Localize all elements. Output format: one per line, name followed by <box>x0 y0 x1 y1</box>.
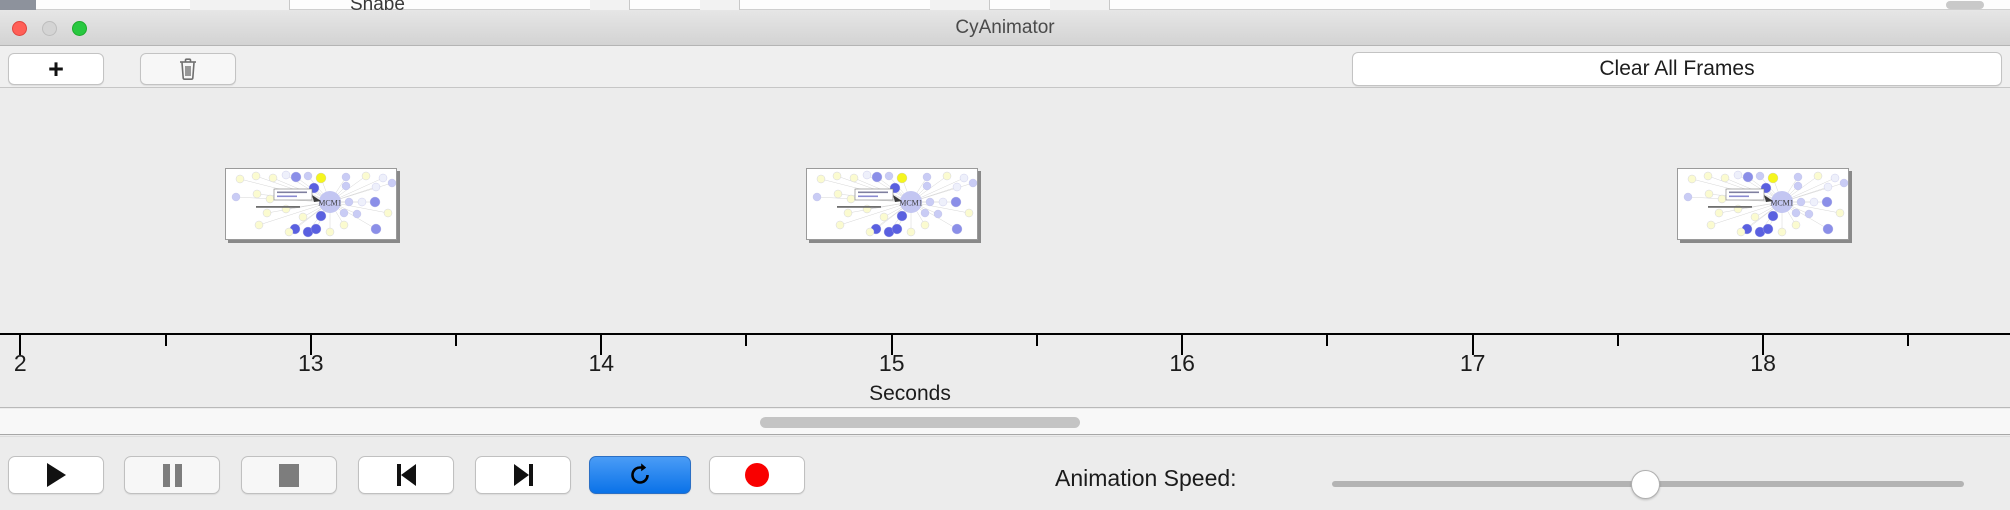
axis-tick-label: 18 <box>1750 350 1776 377</box>
loop-icon <box>626 461 654 489</box>
background-tab <box>590 0 630 10</box>
play-icon <box>47 463 66 487</box>
axis-tick-label: 17 <box>1460 350 1486 377</box>
record-icon <box>745 463 769 487</box>
delete-frame-button[interactable] <box>140 53 236 85</box>
toolbar: + Clear All Frames <box>0 46 2010 88</box>
playback-control-bar: Animation Speed: <box>0 436 2010 510</box>
cyanimator-window: Shape CyAnimator + Clear All Frames MCM1… <box>0 0 2010 510</box>
timeline-axis-line <box>0 333 2010 335</box>
network-thumbnail-graphic: MCM1 <box>1678 169 1849 240</box>
pause-button[interactable] <box>124 456 220 494</box>
background-dark-block <box>0 0 36 10</box>
clear-all-frames-label: Clear All Frames <box>1599 57 1754 81</box>
frames-layer[interactable]: MCM1MCM1MCM1 <box>0 88 2010 340</box>
svg-text:MCM1: MCM1 <box>318 199 342 208</box>
title-bar: CyAnimator <box>0 10 2010 46</box>
background-tab <box>190 0 290 10</box>
axis-tick-minor <box>1907 335 1909 346</box>
axis-title: Seconds <box>0 382 2010 406</box>
axis-title-label: Seconds <box>869 382 951 405</box>
network-thumbnail-graphic: MCM1 <box>807 169 978 240</box>
axis-tick-minor <box>1326 335 1328 346</box>
skip-back-button[interactable] <box>358 456 454 494</box>
skip-forward-button[interactable] <box>475 456 571 494</box>
background-window-strip: Shape <box>0 0 2010 10</box>
loop-button[interactable] <box>589 456 691 494</box>
skip-back-icon <box>397 464 416 486</box>
axis-tick-label: 14 <box>588 350 614 377</box>
axis-tick-minor <box>165 335 167 346</box>
background-tab <box>1050 0 1110 10</box>
axis-tick-label: 2 <box>14 350 27 377</box>
background-tab <box>930 0 990 10</box>
network-thumbnail-graphic: MCM1 <box>226 169 397 240</box>
axis-tick-label: 15 <box>879 350 905 377</box>
animation-speed-slider-thumb[interactable] <box>1631 470 1660 499</box>
timeline-horizontal-scrollbar[interactable] <box>0 409 2010 435</box>
axis-tick-label: 13 <box>298 350 324 377</box>
background-tab <box>700 0 740 10</box>
axis-tick-label: 16 <box>1169 350 1195 377</box>
scrollbar-thumb[interactable] <box>760 417 1080 428</box>
svg-text:MCM1: MCM1 <box>1770 199 1794 208</box>
pause-icon <box>163 464 182 487</box>
window-title: CyAnimator <box>0 10 2010 46</box>
frame-thumbnail[interactable]: MCM1 <box>225 168 397 240</box>
background-scrollbar[interactable] <box>1946 1 1984 9</box>
trash-icon <box>178 57 198 81</box>
skip-forward-icon <box>514 464 533 486</box>
svg-text:MCM1: MCM1 <box>899 199 923 208</box>
frame-thumbnail[interactable]: MCM1 <box>806 168 978 240</box>
play-button[interactable] <box>8 456 104 494</box>
axis-tick-minor <box>1036 335 1038 346</box>
record-button[interactable] <box>709 456 805 494</box>
timeline-panel[interactable]: MCM1MCM1MCM1 2131415161718 Seconds <box>0 88 2010 408</box>
plus-icon: + <box>48 56 64 83</box>
stop-button[interactable] <box>241 456 337 494</box>
frame-thumbnail[interactable]: MCM1 <box>1677 168 1849 240</box>
stop-icon <box>279 464 299 487</box>
animation-speed-label: Animation Speed: <box>1055 465 1237 492</box>
add-frame-button[interactable]: + <box>8 53 104 85</box>
clear-all-frames-button[interactable]: Clear All Frames <box>1352 52 2002 86</box>
axis-tick-minor <box>745 335 747 346</box>
axis-tick-minor <box>455 335 457 346</box>
axis-tick-minor <box>1617 335 1619 346</box>
